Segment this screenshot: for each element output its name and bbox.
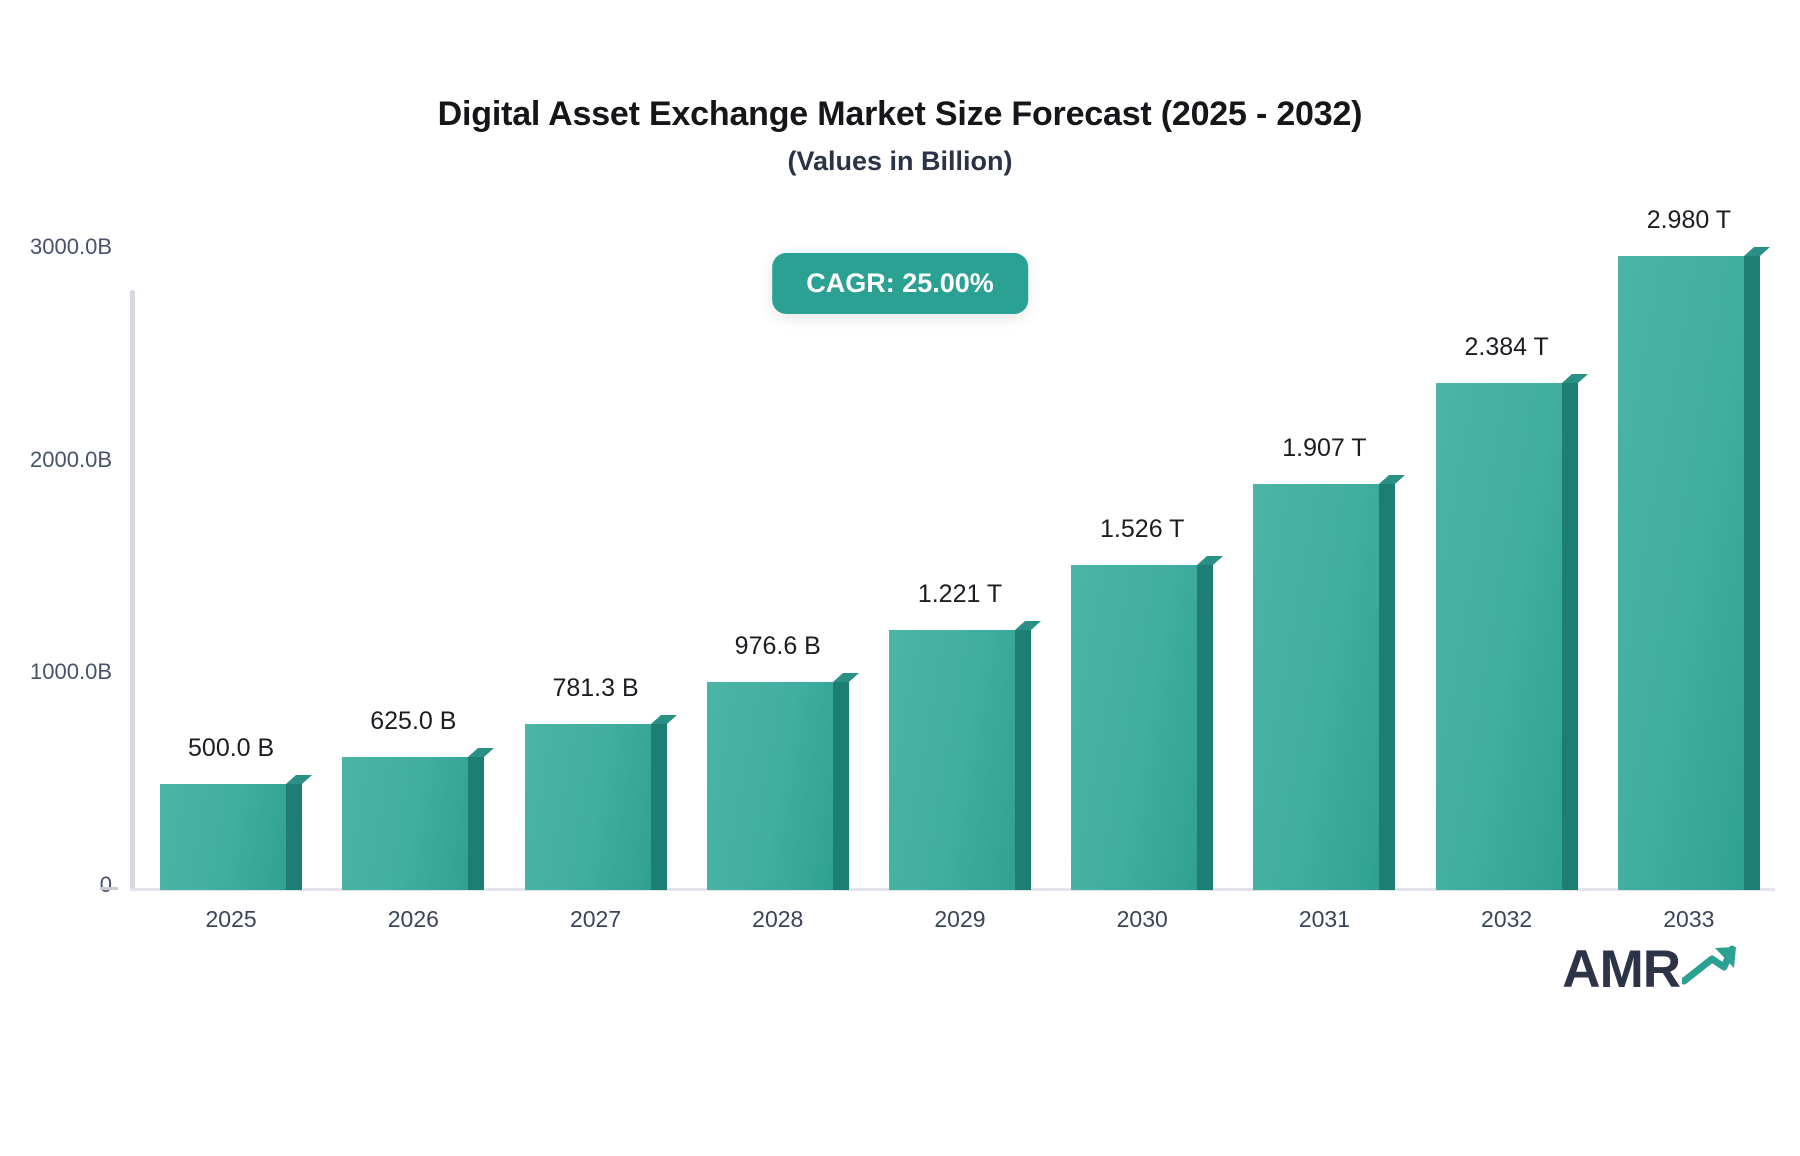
- bar-shape[interactable]: [1071, 565, 1197, 890]
- bar-shape[interactable]: [1618, 256, 1744, 890]
- bar-shape[interactable]: [889, 630, 1015, 890]
- bar-value-label: 1.221 T: [869, 580, 1051, 609]
- bar-shape[interactable]: [1436, 383, 1562, 890]
- x-axis-tick-label: 2029: [869, 906, 1051, 933]
- x-axis-tick-label: 2027: [505, 906, 687, 933]
- x-axis-tick-label: 2025: [140, 906, 322, 933]
- logo-text: AMR: [1562, 943, 1680, 996]
- y-axis-tick-label: 3000.0B: [30, 234, 112, 260]
- bar-value-label: 500.0 B: [140, 734, 322, 763]
- bar-column[interactable]: 500.0 B: [140, 200, 322, 890]
- bar-value-label: 1.526 T: [1051, 515, 1233, 544]
- bar-column[interactable]: 781.3 B: [505, 200, 687, 890]
- y-axis-line: [130, 290, 135, 890]
- bar-value-label: 2.384 T: [1416, 333, 1598, 362]
- bar-shape[interactable]: [342, 757, 468, 890]
- bar-shape[interactable]: [707, 682, 833, 890]
- chart-plot-area: 01000.0B2000.0B3000.0B 500.0 B625.0 B781…: [0, 0, 1800, 1156]
- bar-shape[interactable]: [160, 784, 286, 890]
- bar-column[interactable]: 1.221 T: [869, 200, 1051, 890]
- bar-value-label: 781.3 B: [505, 674, 687, 703]
- amr-logo: AMR: [1562, 943, 1738, 996]
- x-axis-tick-label: 2030: [1051, 906, 1233, 933]
- y-axis-tick-label: 2000.0B: [30, 447, 112, 473]
- bar-value-label: 2.980 T: [1598, 206, 1780, 235]
- bar-column[interactable]: 2.384 T: [1416, 200, 1598, 890]
- bar-value-label: 625.0 B: [322, 707, 504, 736]
- bar-column[interactable]: 1.526 T: [1051, 200, 1233, 890]
- y-axis-tick-label: 1000.0B: [30, 659, 112, 685]
- x-axis-tick-label: 2033: [1598, 906, 1780, 933]
- y-axis-tick-mark: [100, 887, 118, 890]
- bar-value-label: 976.6 B: [687, 632, 869, 661]
- bar-value-label: 1.907 T: [1233, 434, 1415, 463]
- bar-column[interactable]: 976.6 B: [687, 200, 869, 890]
- bar-series: 500.0 B625.0 B781.3 B976.6 B1.221 T1.526…: [140, 200, 1780, 890]
- x-axis-tick-label: 2026: [322, 906, 504, 933]
- y-axis-tick-label: 0: [100, 872, 112, 898]
- x-axis-tick-label: 2032: [1416, 906, 1598, 933]
- bar-column[interactable]: 2.980 T: [1598, 200, 1780, 890]
- arrow-up-right-icon: [1682, 945, 1738, 990]
- x-axis-tick-label: 2031: [1233, 906, 1415, 933]
- bar-column[interactable]: 1.907 T: [1233, 200, 1415, 890]
- x-axis-tick-label: 2028: [687, 906, 869, 933]
- bar-shape[interactable]: [1253, 484, 1379, 890]
- x-axis-labels: 202520262027202820292030203120322033: [140, 906, 1780, 933]
- bar-shape[interactable]: [525, 724, 651, 890]
- bar-column[interactable]: 625.0 B: [322, 200, 504, 890]
